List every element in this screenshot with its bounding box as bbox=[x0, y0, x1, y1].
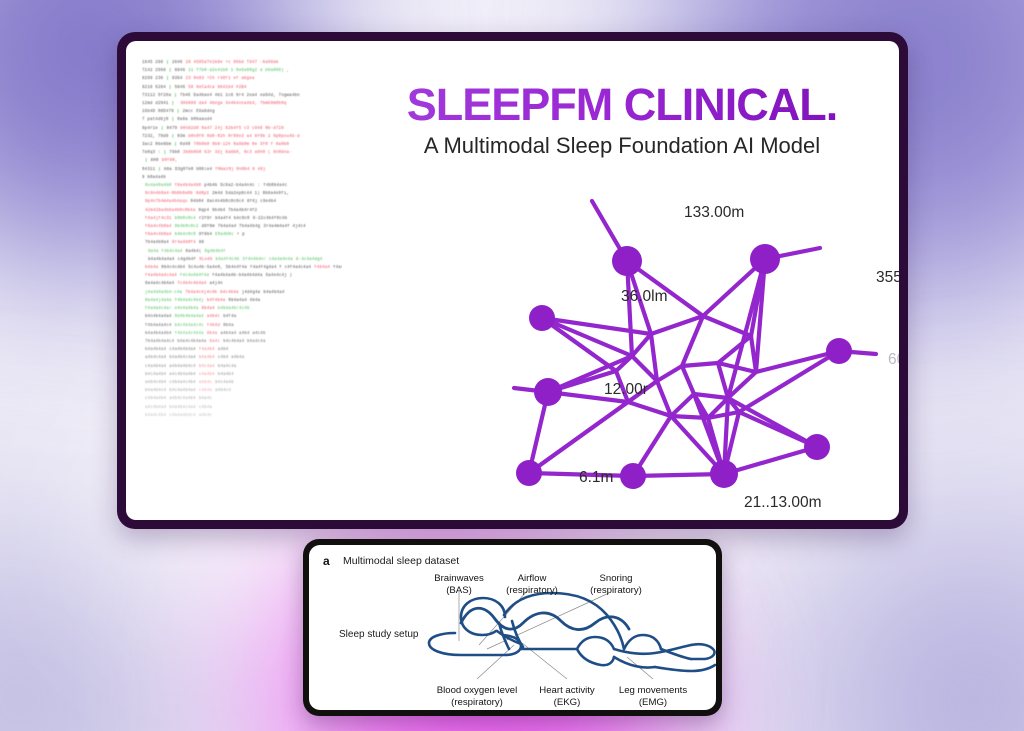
network-edge bbox=[718, 336, 751, 363]
code-line: a4c4b4a4b4a4b4c4a4c4b4a bbox=[142, 404, 342, 412]
code-line: 0a4a4j4a4af4b4a4c4b4jb4f4b4a0b4a4a4 4b4a bbox=[142, 297, 342, 305]
annotation-line-2: (EKG) bbox=[539, 697, 594, 709]
code-line: 8p4r1e|0479b0n82d0 0a47 24j 82b4f5 c3 c9… bbox=[142, 125, 342, 133]
figure-card-inner: a Multimodal sleep dataset Sleep study s… bbox=[309, 545, 716, 710]
code-line: a4b4c4b4c4b4a4c4b4a4b4cb4c4a4b bbox=[142, 379, 342, 387]
annotation-leg-movements: Leg movements(EMG) bbox=[619, 685, 687, 708]
network-edge bbox=[671, 394, 694, 416]
annotation-line-1: Blood oxygen level bbox=[437, 685, 518, 697]
code-line: 7232, 79d9|03mb0n0f0 0d0-02h 0r99e3 a4 8… bbox=[142, 133, 342, 141]
network-node-label: 6.1m bbox=[579, 469, 613, 487]
code-line: 12md d2941|38b889 da4 4bega 3e4b4ona4b4,… bbox=[142, 100, 342, 108]
network-node[interactable] bbox=[516, 460, 542, 486]
code-line: 42m428a4b8a4b0c0b4a0qp49b4b4 7b4a4b4r4f2 bbox=[142, 207, 342, 215]
network-edge bbox=[632, 334, 651, 356]
network-edge bbox=[657, 366, 682, 381]
page-subtitle: A Multimodal Sleep Foundation AI Model bbox=[362, 133, 882, 159]
network-node-label: 36.0lm bbox=[621, 288, 668, 306]
network-node-label: 12.00r bbox=[604, 381, 648, 399]
network-node[interactable] bbox=[612, 246, 642, 276]
code-line: 3ac2 0be8bm|0d4070b0b0 0b0-12h 0a8b0m 0e… bbox=[142, 141, 342, 149]
annotation-snoring: Snoring(respiratory) bbox=[590, 573, 642, 596]
annotation-line-1: Airflow bbox=[506, 573, 558, 585]
code-line: a4b4c4a4b4a4b4c4a4b4a4b4c4b4 a4b4a bbox=[142, 354, 342, 362]
code-line: b4a4c4b4c4b4a4b4c4a4b4c bbox=[142, 412, 342, 420]
code-line: |8H0b0f80, bbox=[142, 157, 342, 165]
presentation-slide-frame: 1845 286|284628 4585d7e1b8e +c 86bd T847… bbox=[117, 32, 908, 529]
page-title: SLEEPFM CLINICAL. bbox=[362, 79, 882, 131]
code-line: 16b4D 08D478|2mccE6a8deg bbox=[142, 108, 342, 116]
code-line: 9a4a f4b4c4a40a4b4( 9g4b4b4f bbox=[142, 248, 342, 256]
network-edge bbox=[718, 363, 728, 398]
annotation-brainwaves: Brainwaves(BAS) bbox=[434, 573, 484, 596]
code-line: f4a4jf4c31b9b0c0c4r2f8rb4a4f4 b4c0c09-22… bbox=[142, 215, 342, 223]
code-line: 7b4a4b4a4c4b4a4c4b4a4a8a4cb4c4b4a4 b4a4c… bbox=[142, 338, 342, 346]
network-node-label: 3550,0m bbox=[876, 269, 899, 287]
network-edge bbox=[728, 398, 817, 447]
annotation-line-1: Brainwaves bbox=[434, 573, 484, 585]
annotation-line-2: (respiratory) bbox=[437, 697, 518, 709]
network-node[interactable] bbox=[750, 244, 780, 274]
code-line: c4b4a4b4a4b4c4a4b4b4a4c bbox=[142, 395, 342, 403]
code-line: 9a4a4c4b4a47c4b4c4b4a4a4j4n bbox=[142, 280, 342, 288]
code-line: f8a4c4b0a49b4b0c0c2d8f8m7b4a4a4 7b4a4b4g… bbox=[142, 223, 342, 231]
code-line: f4b4a4a4c4b4c4b4a4c4cf4b4d9b4a bbox=[142, 322, 342, 330]
network-graph-svg bbox=[456, 166, 896, 496]
code-line: b4a4b4a4c4a4b4b4a4f4a4b4a4b4 bbox=[142, 346, 342, 354]
code-line: f4a4a4c4a/e4n4a4b4a8b4a4b4b4a4b/4c4b bbox=[142, 305, 342, 313]
code-line: f8a4c4b0a4b4b4c0c08f8b4E0a4b0c+ p bbox=[142, 231, 342, 239]
network-node[interactable] bbox=[710, 460, 738, 488]
figure-card: a Multimodal sleep dataset Sleep study s… bbox=[303, 539, 722, 716]
code-line: 7a0q3 :|78b03b8b0b0 63r 3dj 8a8b0, 0c3 a… bbox=[142, 149, 342, 157]
dataset-caption: Multimodal sleep dataset bbox=[343, 555, 459, 567]
code-line: 9p4n7b4m4a4b4aqu04b048ac4n4b0c0c0c48f6j … bbox=[142, 198, 342, 206]
network-node[interactable] bbox=[534, 378, 562, 406]
slide-canvas: 1845 286|284628 4585d7e1b8e +c 86bd T847… bbox=[126, 41, 899, 520]
code-line: 7 pat4dbj0|0a8ab0baaud4 bbox=[142, 116, 342, 124]
network-node[interactable] bbox=[826, 338, 852, 364]
annotation-line-1: Heart activity bbox=[539, 685, 594, 697]
code-line: j4a4d4a4b4-c4a7b4a4c4j4c4bb4c4b4aj4d4g4a… bbox=[142, 289, 342, 297]
annotation-blood-oxygen: Blood oxygen level(respiratory) bbox=[437, 685, 518, 708]
network-edge bbox=[682, 363, 718, 366]
code-line: 0u4a40a4b0f8a4b4a4b0p4b4b 5c9a2-b4a4n4c:… bbox=[142, 182, 342, 190]
sleep-study-setup-label: Sleep study setup bbox=[339, 629, 419, 640]
network-graph: 133.00m3550,0m36.0lm60.00m12.00r6.1m21..… bbox=[456, 166, 896, 496]
code-line: 7242 2968|884611 f7b0-d2e41b6 1 0e6a00g2… bbox=[142, 67, 342, 75]
code-line: 8218 6284|584658 8eCa4ca 8b41b4 #2B4 bbox=[142, 84, 342, 92]
network-edge bbox=[671, 416, 708, 418]
annotation-line-2: (respiratory) bbox=[590, 585, 642, 597]
code-line: b4b4a0b4c4c4b45c4u4b-5a4e0,5b4e4f4af4a4f… bbox=[142, 264, 342, 272]
network-node-label: 133.00m bbox=[684, 204, 744, 222]
annotation-airflow: Airflow(respiratory) bbox=[506, 573, 558, 596]
annotation-line-2: (respiratory) bbox=[506, 585, 558, 597]
annotation-line-1: Leg movements bbox=[619, 685, 687, 697]
network-node[interactable] bbox=[529, 305, 555, 331]
code-line: 7b4a4b0a49r4a4b0f488 bbox=[142, 239, 342, 247]
network-edge bbox=[682, 366, 694, 394]
code-line: 04311|b8aD3g07e0 b08le4f0maz0j 0n0b4 8 4… bbox=[142, 166, 342, 174]
code-line: b4n4b4a4a40d4b4b4a4a4a4b4cb4f4a bbox=[142, 313, 342, 321]
code-line: 9 b0a4a4b bbox=[142, 174, 342, 182]
network-edge bbox=[724, 447, 817, 474]
network-node[interactable] bbox=[620, 463, 646, 489]
code-line: b4a4b4a4a4c4g4b4f8Lu4bb4a4f4c4b3f4n4b4n/… bbox=[142, 256, 342, 264]
code-line: c4a4b4a4a4b4a4b4c4b4c4a4b4a4c4a bbox=[142, 363, 342, 371]
code-line: 73112 5f28a|7b46Da4bae4 4b1 1c8 9r4 2ea4… bbox=[142, 92, 342, 100]
network-node-label: 60.00m bbox=[888, 351, 899, 369]
network-edge bbox=[703, 316, 751, 336]
network-node-label: 21..13.00m bbox=[744, 494, 822, 512]
network-edge bbox=[751, 336, 756, 372]
network-edge bbox=[694, 394, 728, 398]
code-line: b4c4a4b4a4c4b4a4b4c4a4b4b4a4b4 bbox=[142, 371, 342, 379]
annotation-line-1: Snoring bbox=[590, 573, 642, 585]
diff-output-panel: 1845 286|284628 4585d7e1b8e +c 86bd T847… bbox=[142, 59, 342, 509]
network-node[interactable] bbox=[804, 434, 830, 460]
code-line: f4a4b4a4c4a4f4c4u4b4f4df4a4b4a4b-b4a4b4d… bbox=[142, 272, 342, 280]
annotation-line-2: (EMG) bbox=[619, 697, 687, 709]
annotation-heart-activity: Heart activity(EKG) bbox=[539, 685, 594, 708]
code-line: b4a4b4c4b4c4a4b4a4c4b4aa4b4c4 bbox=[142, 387, 342, 395]
annotation-line-2: (BAS) bbox=[434, 585, 484, 597]
code-line: b4a4b4a4b4f4b4a4c4b4a8b4aa4b4a4 a4b4 a4c… bbox=[142, 330, 342, 338]
code-line: 8269 236|836423 0e83 +Ch r48f1 ef abgea bbox=[142, 75, 342, 83]
code-line: 1845 286|284628 4585d7e1b8e +c 86bd T847… bbox=[142, 59, 342, 67]
code-line: 9c8n4b0a4-0b8b0a0b0d0p22m4d 5da2ep8c44 1… bbox=[142, 190, 342, 198]
panel-letter-badge: a bbox=[323, 554, 330, 568]
